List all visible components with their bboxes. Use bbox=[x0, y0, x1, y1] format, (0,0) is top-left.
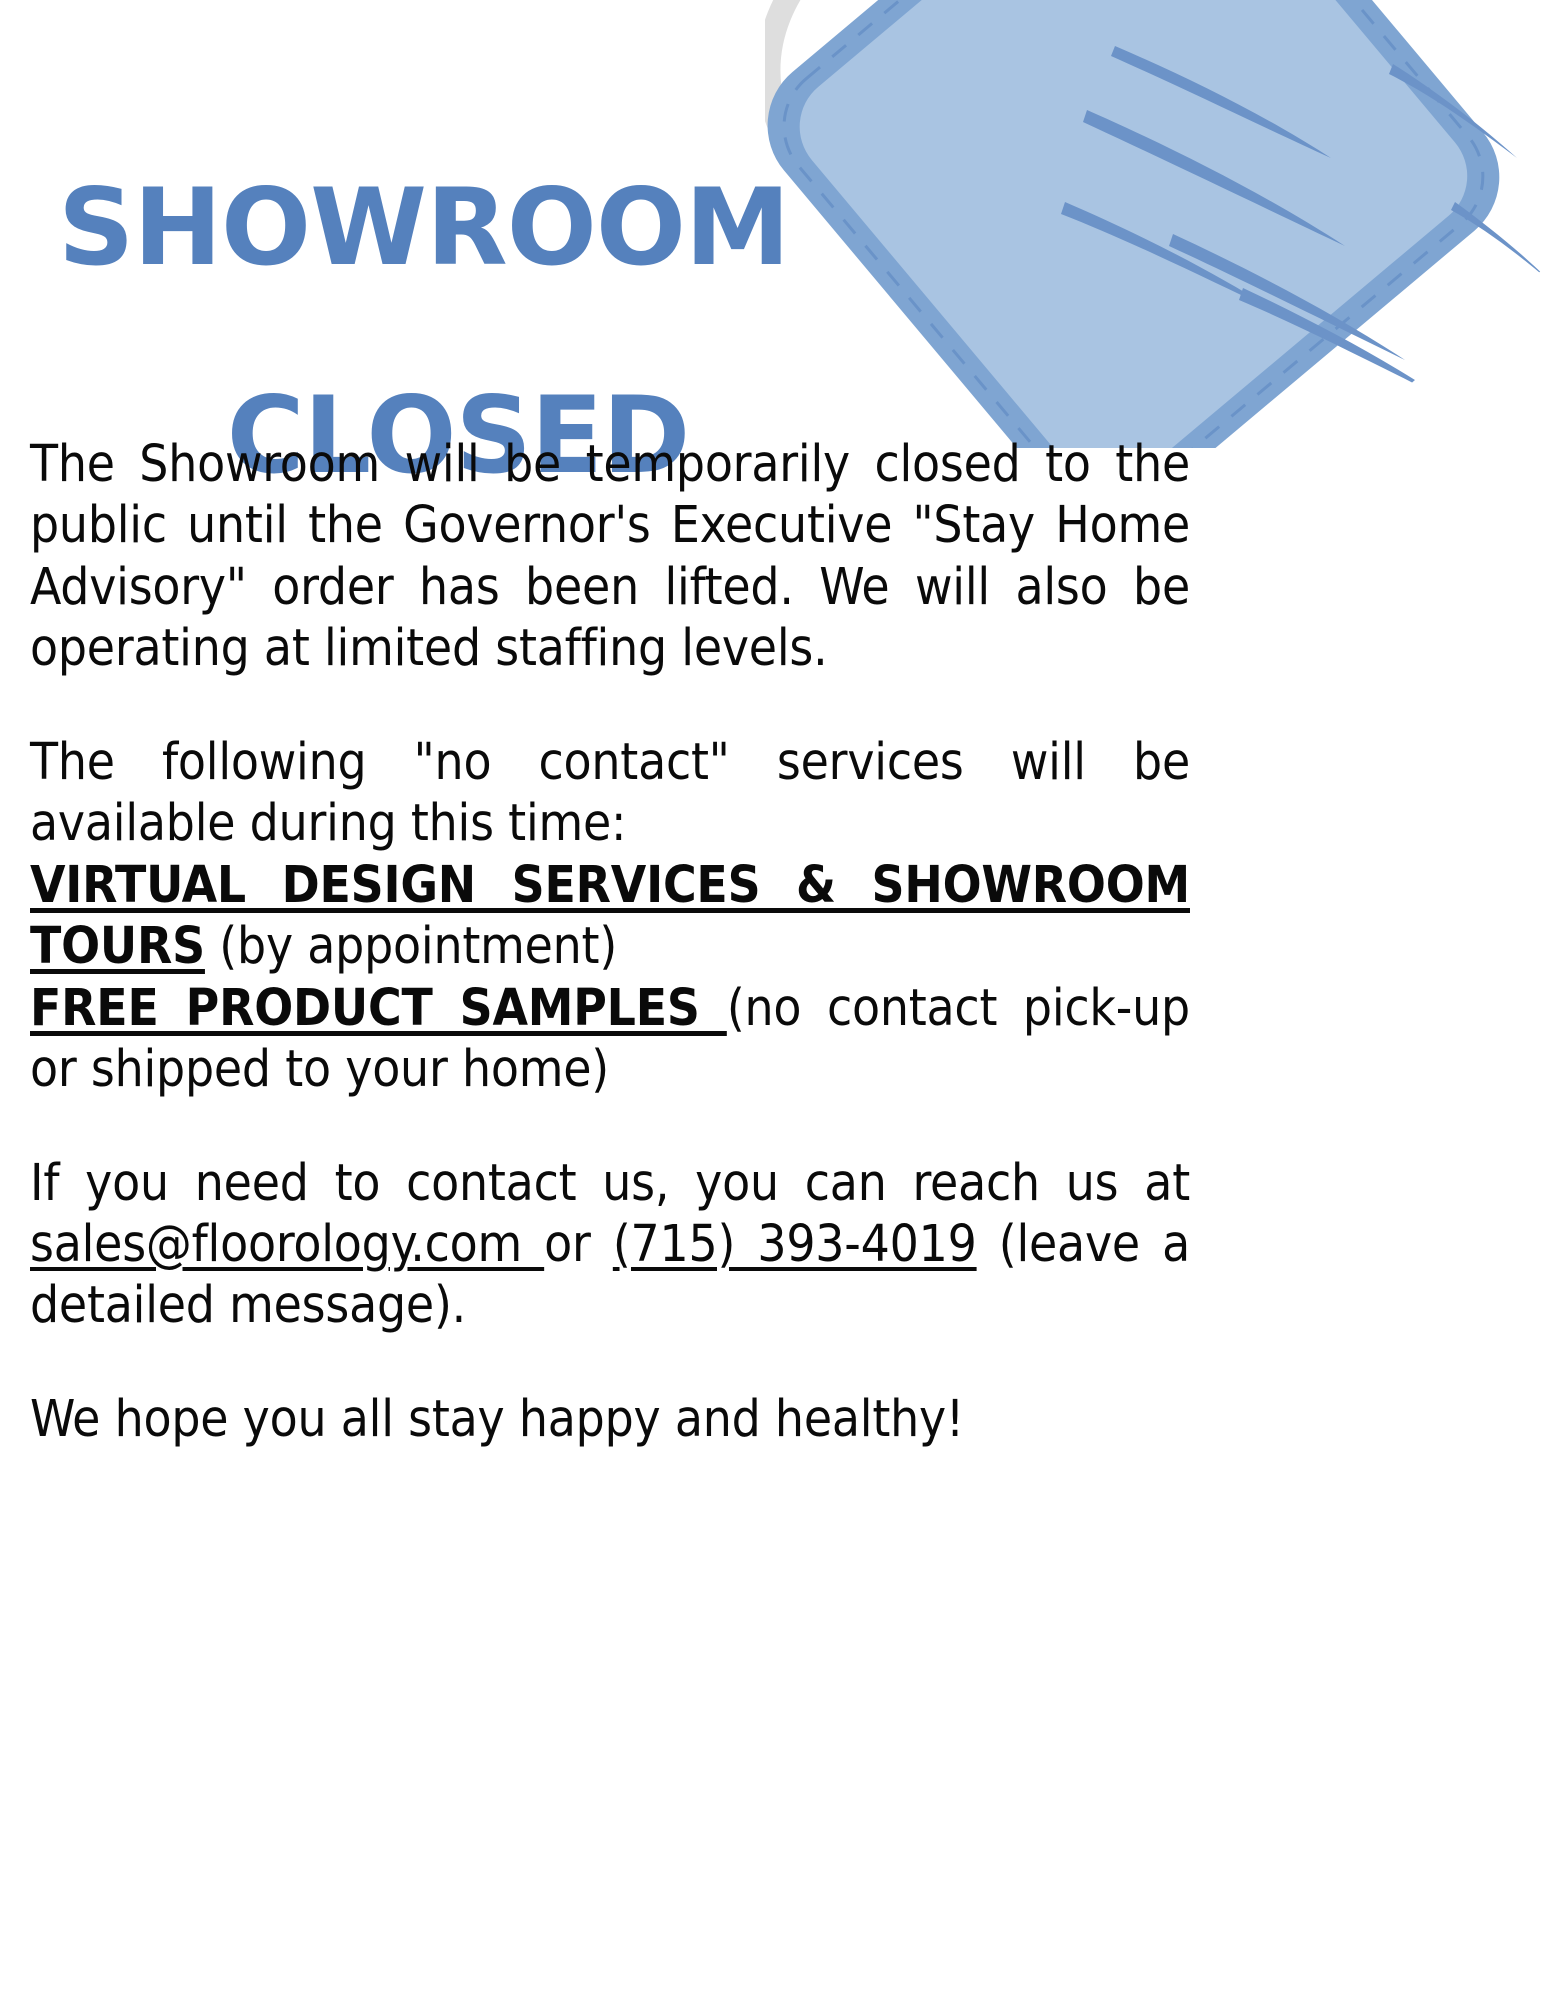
mask-body-shape bbox=[778, 0, 1488, 448]
notice-body: The Showroom will be temporarily closed … bbox=[30, 434, 1190, 1502]
paragraph-contact: If you need to contact us, you can reach… bbox=[30, 1153, 1190, 1337]
mask-stitching bbox=[765, 0, 1508, 448]
service-item-virtual-design: VIRTUAL DESIGN SERVICES & SHOWROOM TOURS… bbox=[30, 855, 1190, 978]
services-block: The following "no contact" services will… bbox=[30, 732, 1190, 1101]
paragraph-services-intro: The following "no contact" services will… bbox=[30, 732, 1190, 855]
mask-fold-lines bbox=[1061, 46, 1545, 398]
title-line-showroom: SHOWROOM bbox=[58, 176, 858, 280]
contact-prefix-text: If you need to contact us, you can reach… bbox=[30, 1154, 1190, 1213]
service-item-free-samples: FREE PRODUCT SAMPLES (no contact pick-up… bbox=[30, 978, 1190, 1101]
contact-email-link[interactable]: sales@floorology.com bbox=[30, 1215, 544, 1274]
face-mask-illustration bbox=[765, 0, 1545, 448]
contact-joiner-text: or bbox=[544, 1215, 613, 1274]
face-mask-icon bbox=[765, 0, 1545, 448]
service-2-title: FREE PRODUCT SAMPLES bbox=[30, 979, 727, 1038]
mask-border-shape bbox=[765, 0, 1528, 448]
paragraph-closing: We hope you all stay happy and healthy! bbox=[30, 1389, 1190, 1450]
contact-phone-link[interactable]: (715) 393-4019 bbox=[613, 1215, 977, 1274]
flyer-page: SHOWROOM CLOSED The Showroom will be tem… bbox=[0, 0, 1545, 2000]
service-1-note: (by appointment) bbox=[205, 917, 617, 976]
paragraph-closure-notice: The Showroom will be temporarily closed … bbox=[30, 434, 1190, 680]
